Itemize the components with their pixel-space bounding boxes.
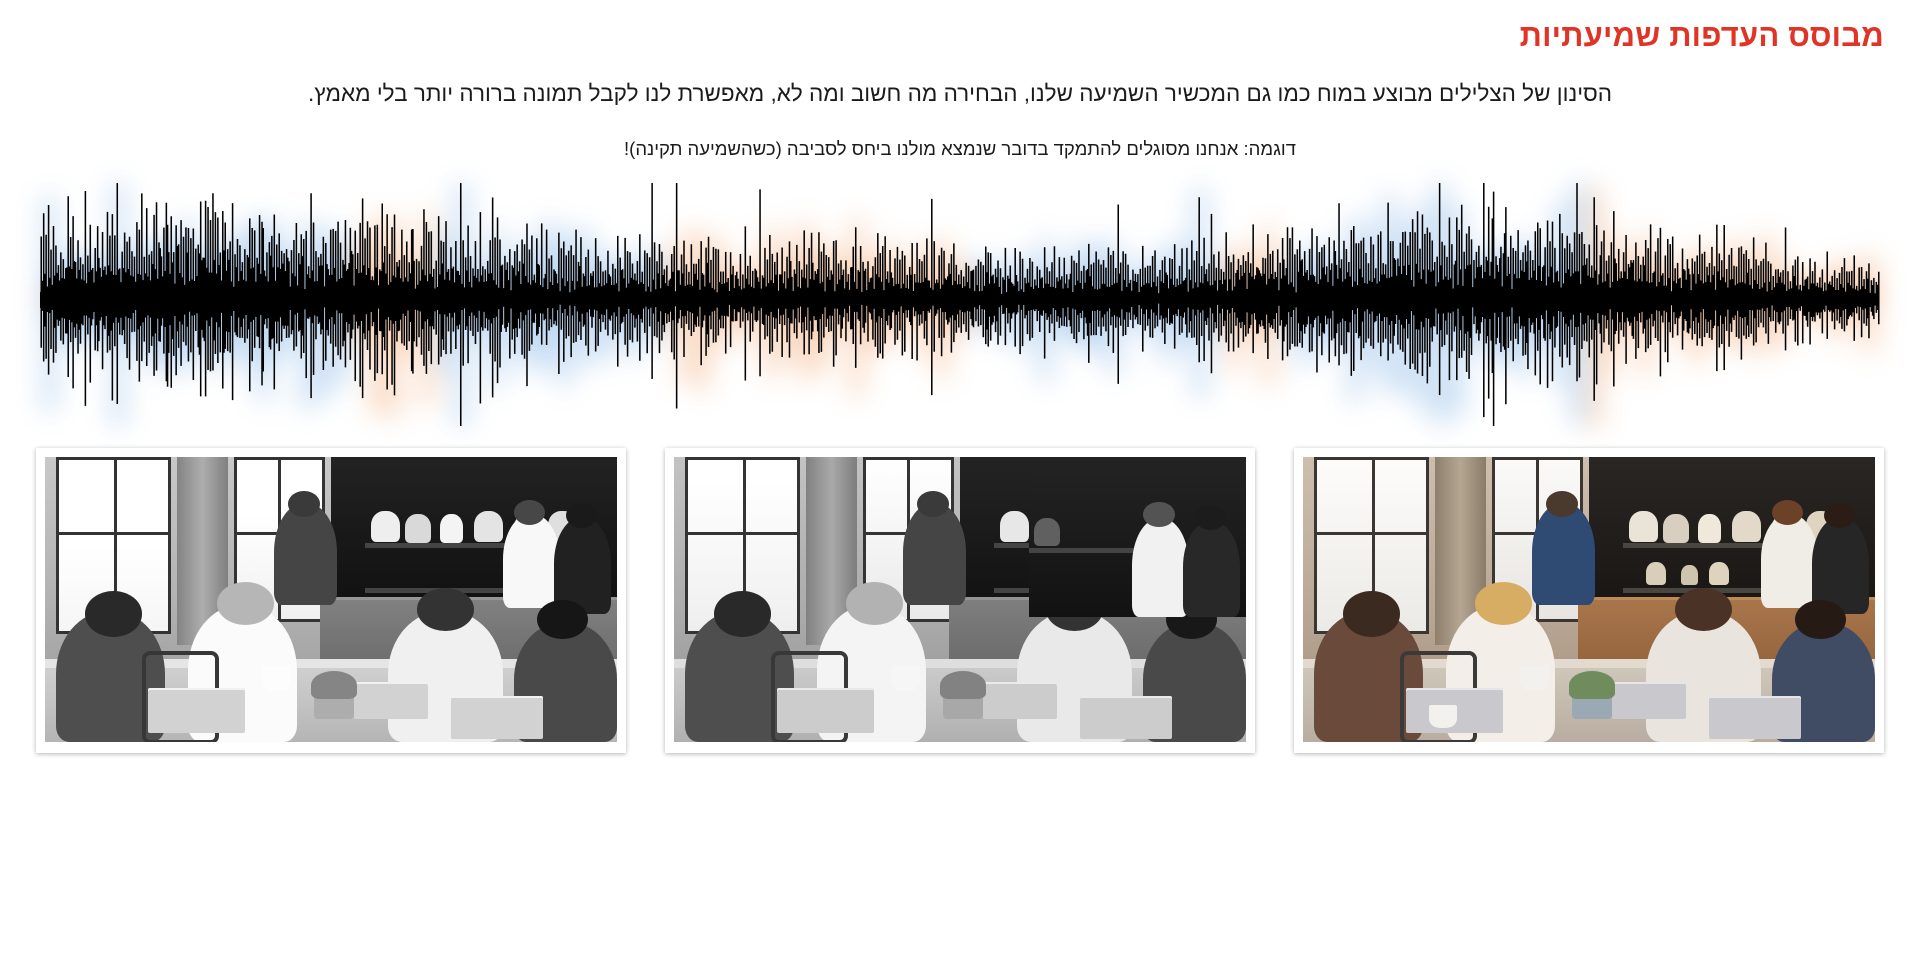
cafe-scene-greyscale <box>45 457 617 742</box>
page-title: מבוסס העדפות שמיעתיות <box>1520 18 1884 54</box>
slide-root: מבוסס העדפות שמיעתיות הסינון של הצלילים … <box>0 0 1920 963</box>
waveform-core-layer <box>40 183 1880 426</box>
subtitle-text: הסינון של הצלילים מבוצע במוח כמו גם המכש… <box>36 80 1884 109</box>
photo-cafe-greyscale <box>45 457 617 742</box>
photo-card-1[interactable] <box>1294 448 1884 753</box>
cafe-scene-colour <box>1303 457 1875 742</box>
photo-cafe-partial-colour <box>674 457 1246 742</box>
photo-row <box>36 448 1884 753</box>
photo-cafe-full-colour <box>1303 457 1875 742</box>
photo-card-3[interactable] <box>36 448 626 753</box>
example-text: דוגמה: אנחנו מסוגלים להתמקד בדובר שנמצא … <box>36 137 1884 161</box>
cafe-scene-grey <box>674 457 1246 742</box>
photo-card-2[interactable] <box>665 448 1255 753</box>
audio-waveform <box>40 183 1880 426</box>
